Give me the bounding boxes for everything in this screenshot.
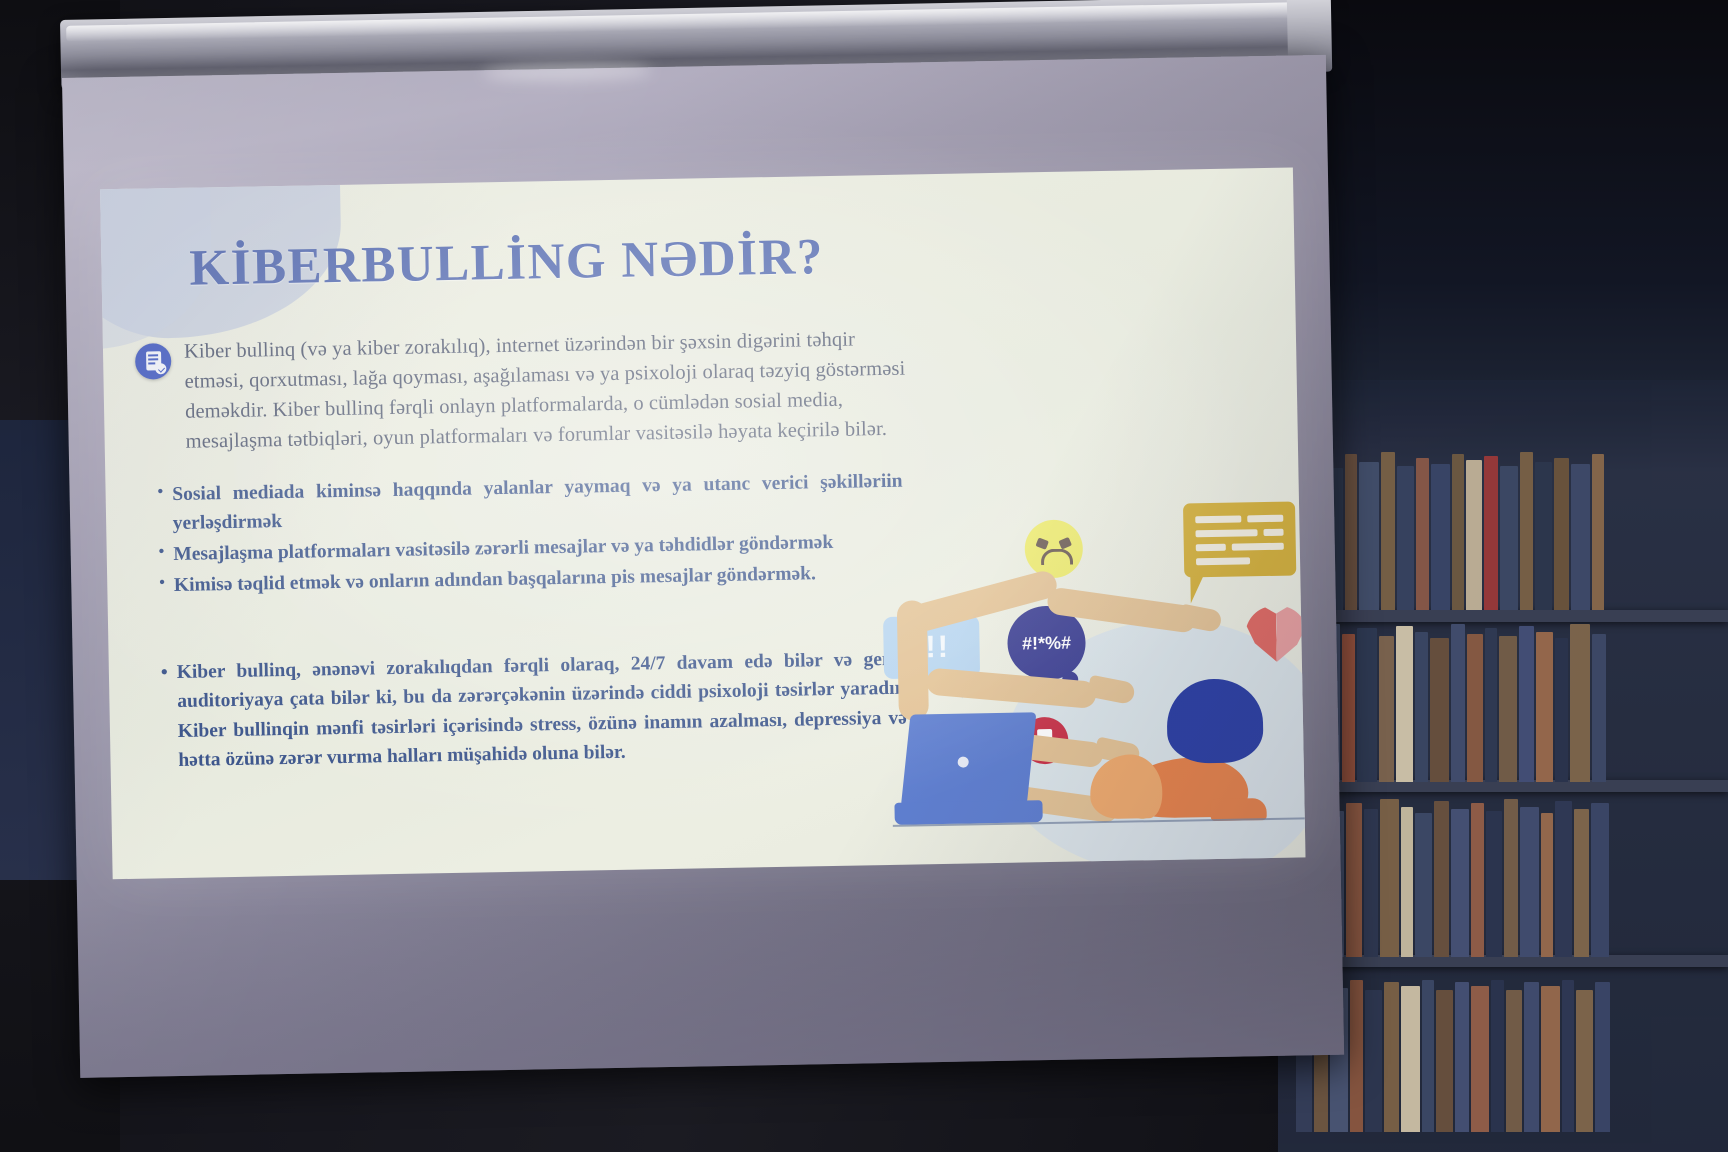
yellow-speech-bubble-icon — [1183, 501, 1296, 577]
cyberbullying-illustration: !!! #!*%# — [877, 497, 1306, 865]
laptop-icon — [901, 712, 1037, 807]
closing-paragraph-block: • Kiber bullinq, ənənəvi zorakılıqdan fə… — [161, 645, 908, 776]
upper-dark-wall — [1278, 0, 1728, 400]
photo-scene: KİBERBULLİNG NƏDİR? Kiber bullinq (və ya… — [0, 0, 1728, 1152]
bullet-marker: • — [159, 571, 165, 600]
bullet-marker: • — [158, 540, 164, 569]
document-check-icon — [135, 343, 172, 380]
list-item: • Sosial mediada kiminsə haqqında yalanl… — [157, 467, 903, 539]
bookshelf — [1278, 380, 1728, 1152]
bullet-list: • Sosial mediada kiminsə haqqında yalanl… — [157, 467, 904, 603]
broken-heart-icon — [1245, 605, 1306, 666]
intro-paragraph: Kiber bullinq (və ya kiber zorakılıq), i… — [184, 325, 907, 458]
screen-lower-shadow — [77, 875, 1344, 1078]
check-mark-shape — [155, 363, 166, 374]
bullet-marker: • — [161, 658, 170, 775]
page-title: KİBERBULLİNG NƏDİR? — [189, 228, 824, 298]
list-item-label: Sosial mediada kiminsə haqqında yalanlar… — [172, 467, 903, 538]
angry-face-icon — [1024, 519, 1083, 578]
presentation-slide: KİBERBULLİNG NƏDİR? Kiber bullinq (və ya… — [100, 167, 1305, 879]
censored-swear-label: #!*%# — [1022, 632, 1071, 654]
projection-screen-surface: KİBERBULLİNG NƏDİR? Kiber bullinq (və ya… — [62, 55, 1344, 1078]
closing-paragraph: Kiber bullinq, ənənəvi zorakılıqdan fərq… — [176, 645, 907, 775]
list-item: • Kiber bullinq, ənənəvi zorakılıqdan fə… — [161, 645, 908, 776]
bullet-marker: • — [157, 480, 164, 538]
intro-paragraph-row: Kiber bullinq (və ya kiber zorakılıq), i… — [135, 325, 907, 459]
